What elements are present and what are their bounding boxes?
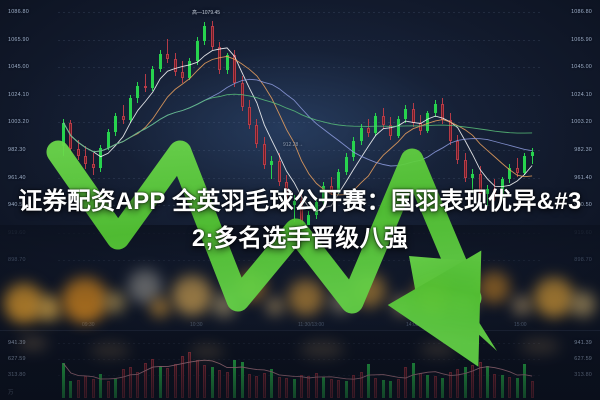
volume-ma-line	[64, 360, 533, 379]
time-axis-tick: 11:30/13:00	[298, 322, 324, 328]
time-axis-tick: 15:00	[514, 322, 527, 328]
moving-average-lines	[0, 0, 600, 330]
low-price-marker: 912.28→	[283, 142, 303, 148]
price-chart-panel: 1086.801065.901045.001024.101003.20982.3…	[0, 0, 600, 330]
headline-text: 证券配资APP 全英羽毛球公开赛：国羽表现优异&#3 2;多名选手晋级八强	[0, 183, 600, 257]
high-price-marker: 高—1079.45	[192, 9, 220, 16]
time-axis-tick: 09:30	[82, 322, 95, 328]
ma-line-ma10	[64, 56, 533, 195]
time-axis-tick: 14:00	[406, 322, 419, 328]
volume-chart-panel: 941.39627.59313.80万 941.39627.59313.80	[0, 330, 600, 400]
time-axis-tick: 10:30	[190, 322, 203, 328]
headline-line-2: 2;多名选手晋级八强	[0, 220, 600, 257]
ma-line-ma20	[64, 79, 533, 166]
volume-moving-average-line	[0, 331, 600, 400]
news-thumbnail: 1086.801065.901045.001024.101003.20982.3…	[0, 0, 600, 400]
headline-line-1: 证券配资APP 全英羽毛球公开赛：国羽表现优异&#3	[18, 188, 581, 215]
